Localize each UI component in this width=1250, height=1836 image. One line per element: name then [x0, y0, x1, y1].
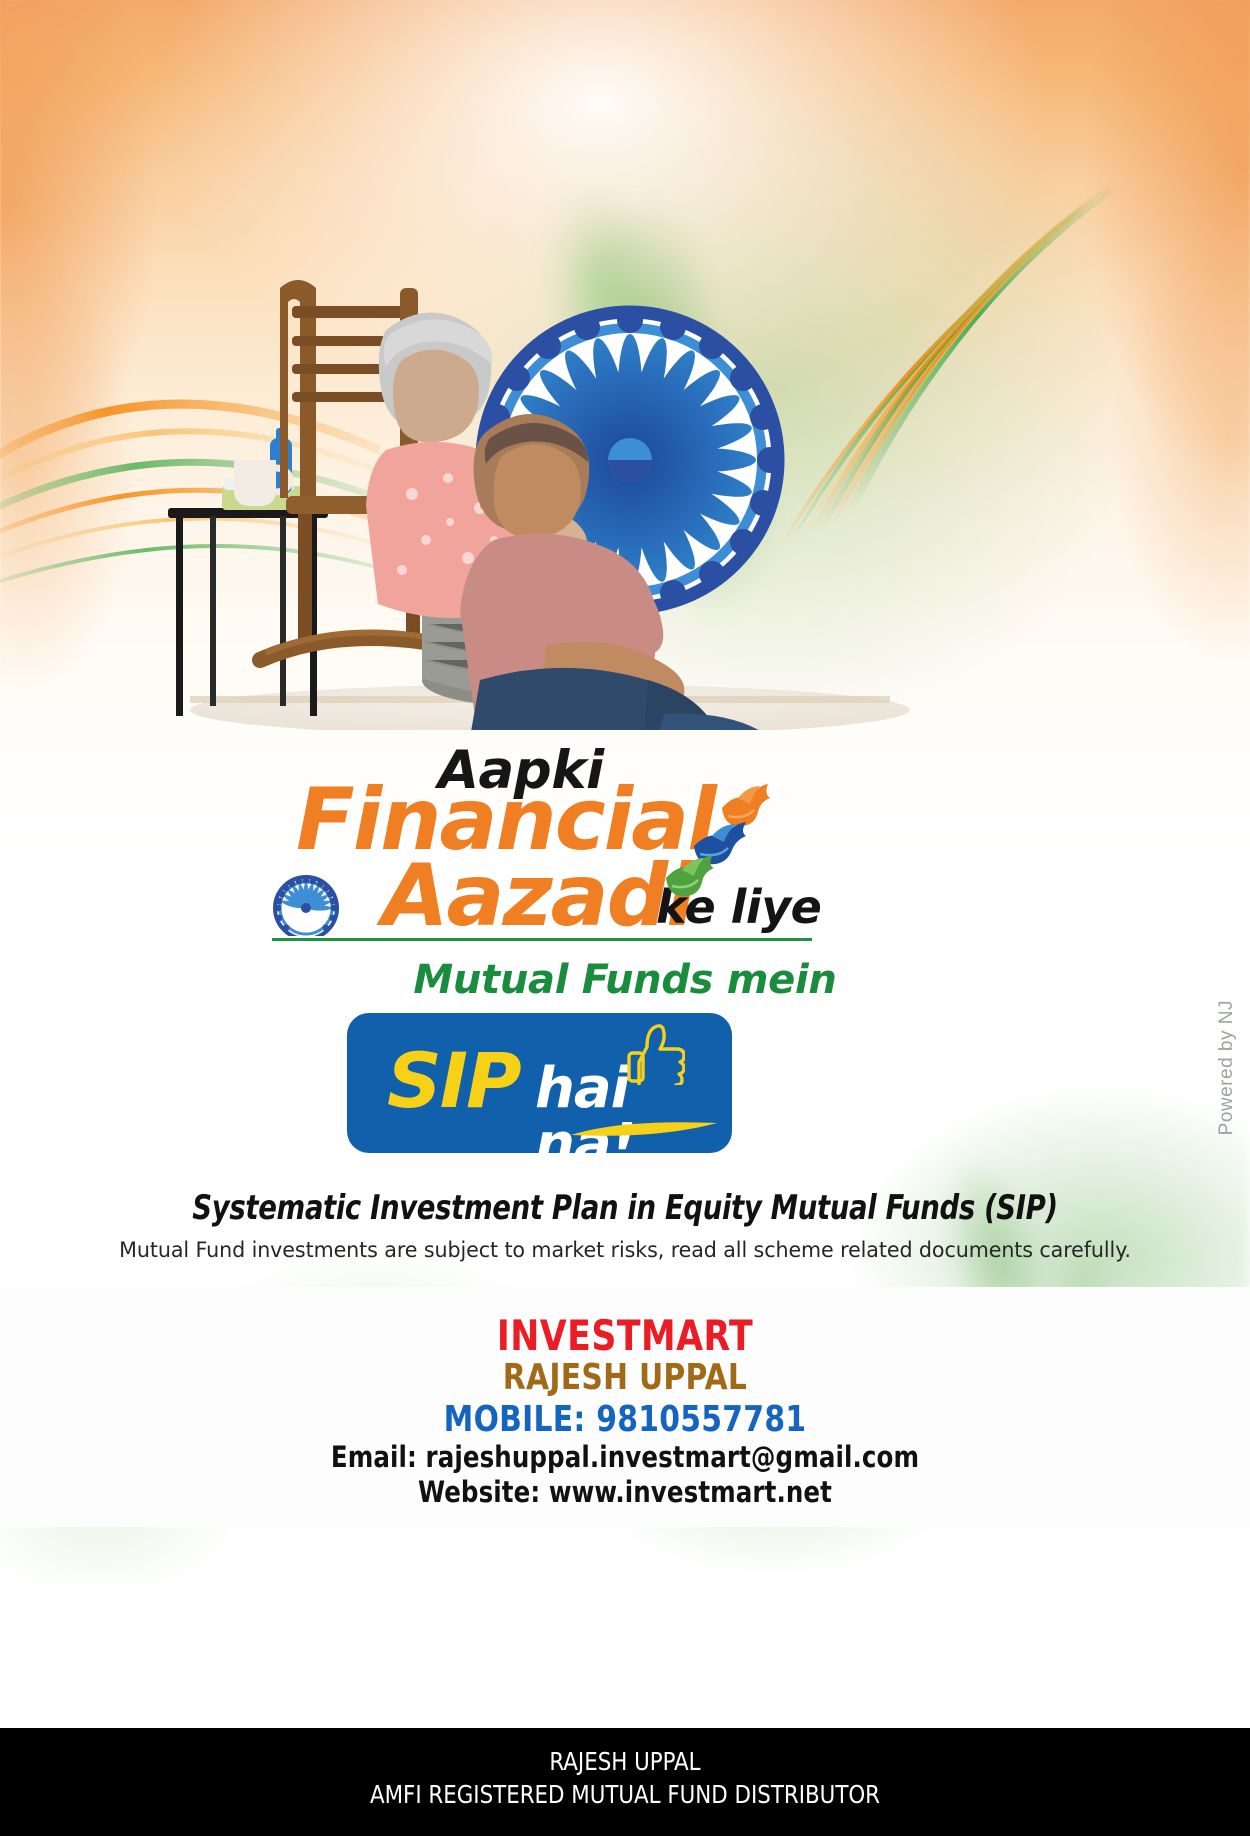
risk-disclaimer-text: Mutual Fund investments are subject to m… [25, 1238, 1225, 1263]
senior-couple-photo [150, 210, 910, 730]
dove-green-icon [662, 852, 720, 900]
footer-distributor-name: RAJESH UPPAL [31, 1746, 1219, 1779]
green-divider-rule [272, 938, 812, 941]
footer-distributor-role: AMFI REGISTERED MUTUAL FUND DISTRIBUTOR [31, 1779, 1219, 1812]
footer-band: RAJESH UPPAL AMFI REGISTERED MUTUAL FUND… [0, 1728, 1250, 1836]
sip-label: SIP [387, 1043, 520, 1119]
headline-aazadi: Aazadi [382, 853, 694, 939]
contact-person-name: RAJESH UPPAL [50, 1358, 1200, 1398]
tagline-text: Systematic Investment Plan in Equity Mut… [63, 1188, 1188, 1228]
contact-brand-name: INVESTMART [50, 1313, 1200, 1358]
sip-hai-na-badge: SIP hai na! [347, 1013, 732, 1153]
yellow-underline-swoosh [569, 1119, 719, 1141]
contact-website[interactable]: Website: www.investmart.net [38, 1475, 1213, 1509]
contact-block: INVESTMART RAJESH UPPAL MOBILE: 98105577… [0, 1287, 1250, 1527]
ashoka-chakra-small-icon [272, 868, 340, 936]
poster-root: Aapki Financial Aazadi ke liye [0, 0, 1250, 1836]
contact-email[interactable]: Email: rajeshuppal.investmart@gmail.com [38, 1440, 1213, 1474]
headline-aapki: Aapki [438, 740, 604, 801]
headline-block: Aapki Financial Aazadi ke liye [0, 740, 1250, 955]
powered-by-nj-label: Powered by NJ [1216, 1000, 1238, 1135]
subheadline-mutual-funds-mein: Mutual Funds mein [0, 957, 1250, 1003]
thumbs-up-icon [625, 1023, 685, 1085]
contact-mobile[interactable]: MOBILE: 9810557781 [50, 1399, 1200, 1441]
